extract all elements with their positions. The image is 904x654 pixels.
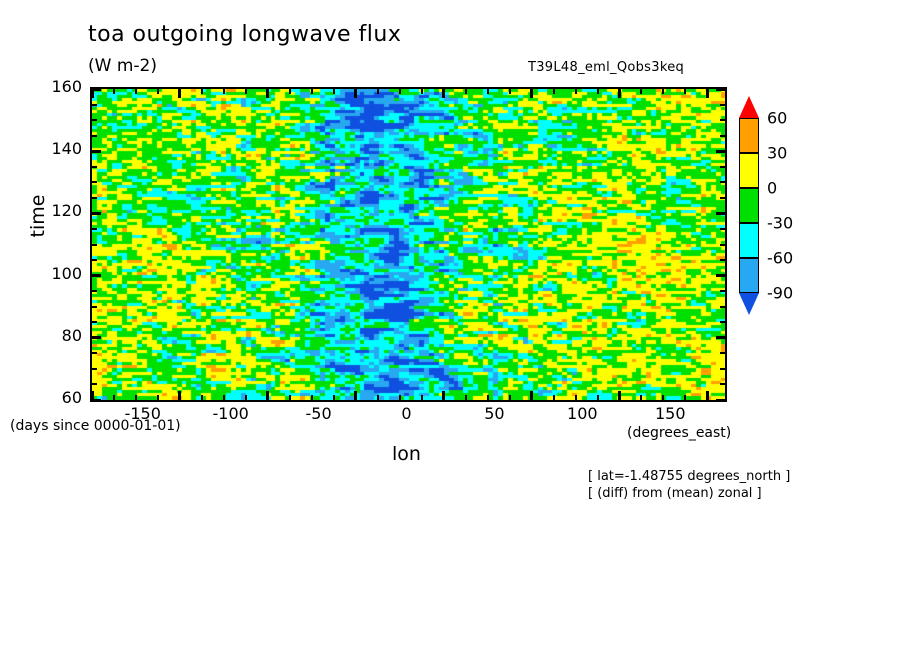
y-axis-tick-mark xyxy=(92,383,97,385)
x-axis-tick-mark xyxy=(465,89,467,94)
colorbar: 60300-30-60-90 xyxy=(739,118,759,293)
x-axis-tick-mark xyxy=(553,89,555,94)
x-tick-50: 50 xyxy=(454,404,534,423)
y-axis-tick-mark xyxy=(720,228,725,230)
colorbar-label-60: 60 xyxy=(767,109,787,128)
colorbar-label-30: 30 xyxy=(767,144,787,163)
y-axis-tick-mark xyxy=(92,197,97,199)
x-axis-tick-mark xyxy=(575,89,577,94)
x-tick-0: 0 xyxy=(367,404,447,423)
x-axis-tick-mark xyxy=(684,395,686,400)
footnote-diff: [ (diff) from (mean) zonal ] xyxy=(588,485,790,502)
x-axis-tick-mark xyxy=(201,395,203,400)
y-tick-160: 160 xyxy=(24,77,82,96)
x-axis-tick-mark xyxy=(289,89,291,94)
x-axis-tick-mark xyxy=(157,89,159,94)
y-axis-tick-mark xyxy=(92,181,97,183)
y-axis-tick-mark xyxy=(720,135,725,137)
x-axis-tick-mark xyxy=(266,391,269,400)
x-axis-tick-mark xyxy=(442,89,445,98)
y-axis-tick-mark xyxy=(716,88,725,91)
x-axis-tick-mark xyxy=(223,395,225,400)
y-axis-tick-mark xyxy=(92,166,97,168)
x-axis-tick-mark xyxy=(377,89,379,94)
colorbar-band--60 xyxy=(739,223,759,258)
x-axis-tick-mark xyxy=(553,395,555,400)
footnote-block: [ lat=-1.48755 degrees_north ] [ (diff) … xyxy=(588,468,790,502)
y-axis-tick-mark xyxy=(720,119,725,121)
x-axis-tick-mark xyxy=(684,89,686,94)
x-axis-tick-mark xyxy=(178,89,181,98)
x-axis-tick-mark xyxy=(509,89,511,94)
colorbar-cap-bottom xyxy=(739,293,759,315)
y-axis-tick-mark xyxy=(92,274,101,277)
x-axis-tick-mark xyxy=(289,395,291,400)
y-axis-tick-mark xyxy=(720,197,725,199)
colorbar-band--90 xyxy=(739,258,759,293)
y-axis-tick-mark xyxy=(92,290,97,292)
y-axis-tick-mark xyxy=(720,368,725,370)
x-axis-title: lon xyxy=(90,443,723,465)
y-tick-80: 80 xyxy=(24,326,82,345)
x-axis-tick-mark xyxy=(530,391,533,400)
y-axis-tick-mark xyxy=(720,181,725,183)
y-axis-tick-mark xyxy=(720,104,725,106)
y-axis-tick-mark xyxy=(92,104,97,106)
x-axis-tick-mark xyxy=(245,395,247,400)
x-axis-tick-mark xyxy=(91,89,94,98)
x-axis-tick-mark xyxy=(91,391,94,400)
y-axis-tick-mark xyxy=(720,259,725,261)
colorbar-label--90: -90 xyxy=(767,284,793,303)
x-axis-tick-mark xyxy=(354,391,357,400)
run-id-label: T39L48_eml_Qobs3keq xyxy=(528,60,684,75)
x-tick--100: -100 xyxy=(191,404,271,423)
colorbar-cap-top xyxy=(739,96,759,118)
x-axis-tick-mark xyxy=(575,395,577,400)
x-axis-tick-mark xyxy=(530,89,533,98)
x-axis-tick-mark xyxy=(354,89,357,98)
y-axis-title: time xyxy=(27,176,49,256)
y-axis-tick-mark xyxy=(92,352,97,354)
x-axis-units-label: (degrees_east) xyxy=(627,425,731,441)
page-title: toa outgoing longwave flux xyxy=(88,22,401,47)
colorbar-band-0 xyxy=(739,153,759,188)
x-axis-tick-mark xyxy=(399,89,401,94)
x-axis-tick-mark xyxy=(113,89,115,94)
x-axis-tick-mark xyxy=(662,89,664,94)
y-axis-units-label: (days since 0000-01-01) xyxy=(10,418,181,434)
y-axis-tick-mark xyxy=(92,212,101,215)
x-axis-tick-mark xyxy=(178,391,181,400)
heatmap-canvas xyxy=(92,89,725,400)
x-tick-100: 100 xyxy=(542,404,622,423)
hovmoller-plot-area xyxy=(90,87,727,402)
y-axis-tick-mark xyxy=(716,399,725,402)
x-axis-tick-mark xyxy=(266,89,269,98)
x-axis-tick-mark xyxy=(487,395,489,400)
units-label: (W m-2) xyxy=(88,56,157,76)
x-tick--50: -50 xyxy=(279,404,359,423)
x-axis-tick-mark xyxy=(311,395,313,400)
x-axis-tick-mark xyxy=(465,395,467,400)
x-axis-tick-mark xyxy=(245,89,247,94)
x-axis-tick-mark xyxy=(201,89,203,94)
x-axis-tick-mark xyxy=(157,395,159,400)
y-tick-140: 140 xyxy=(24,139,82,158)
x-axis-tick-mark xyxy=(333,89,335,94)
colorbar-band-30 xyxy=(739,118,759,153)
y-axis-tick-mark xyxy=(92,336,101,339)
y-axis-tick-mark xyxy=(92,368,97,370)
x-axis-tick-mark xyxy=(223,89,225,94)
x-axis-tick-mark xyxy=(135,395,137,400)
y-axis-tick-mark xyxy=(716,212,725,215)
colorbar-label--30: -30 xyxy=(767,214,793,233)
x-axis-tick-mark xyxy=(377,395,379,400)
x-axis-tick-mark xyxy=(399,395,401,400)
y-axis-tick-mark xyxy=(720,244,725,246)
y-tick-60: 60 xyxy=(24,388,82,407)
x-axis-tick-mark xyxy=(333,395,335,400)
y-axis-tick-mark xyxy=(92,244,97,246)
y-axis-tick-mark xyxy=(92,150,101,153)
x-axis-tick-mark xyxy=(618,89,621,98)
x-axis-tick-mark xyxy=(421,89,423,94)
y-axis-tick-mark xyxy=(720,306,725,308)
colorbar-label-0: 0 xyxy=(767,179,777,198)
x-axis-tick-mark xyxy=(597,89,599,94)
x-axis-tick-mark xyxy=(509,395,511,400)
y-axis-tick-mark xyxy=(92,259,97,261)
y-axis-tick-mark xyxy=(92,306,97,308)
x-axis-tick-mark xyxy=(597,395,599,400)
x-axis-tick-mark xyxy=(487,89,489,94)
colorbar-label--60: -60 xyxy=(767,249,793,268)
y-axis-tick-mark xyxy=(720,166,725,168)
x-axis-tick-mark xyxy=(311,89,313,94)
x-axis-tick-mark xyxy=(640,89,642,94)
x-axis-tick-mark xyxy=(706,391,709,400)
y-axis-tick-mark xyxy=(92,321,97,323)
x-axis-tick-mark xyxy=(662,395,664,400)
y-axis-tick-mark xyxy=(716,150,725,153)
y-axis-tick-mark xyxy=(92,135,97,137)
y-axis-tick-mark xyxy=(716,336,725,339)
y-axis-tick-mark xyxy=(720,321,725,323)
x-axis-tick-mark xyxy=(442,391,445,400)
x-axis-tick-mark xyxy=(135,89,137,94)
x-axis-tick-mark xyxy=(113,395,115,400)
footnote-lat: [ lat=-1.48755 degrees_north ] xyxy=(588,468,790,485)
colorbar-band--30 xyxy=(739,188,759,223)
x-axis-tick-mark xyxy=(706,89,709,98)
x-tick-150: 150 xyxy=(630,404,710,423)
x-axis-tick-mark xyxy=(618,391,621,400)
x-axis-tick-mark xyxy=(640,395,642,400)
y-axis-tick-mark xyxy=(92,228,97,230)
x-axis-tick-mark xyxy=(421,395,423,400)
y-axis-tick-mark xyxy=(720,383,725,385)
y-tick-100: 100 xyxy=(24,264,82,283)
y-axis-tick-mark xyxy=(720,290,725,292)
y-axis-tick-mark xyxy=(92,119,97,121)
y-axis-tick-mark xyxy=(720,352,725,354)
y-axis-tick-mark xyxy=(716,274,725,277)
